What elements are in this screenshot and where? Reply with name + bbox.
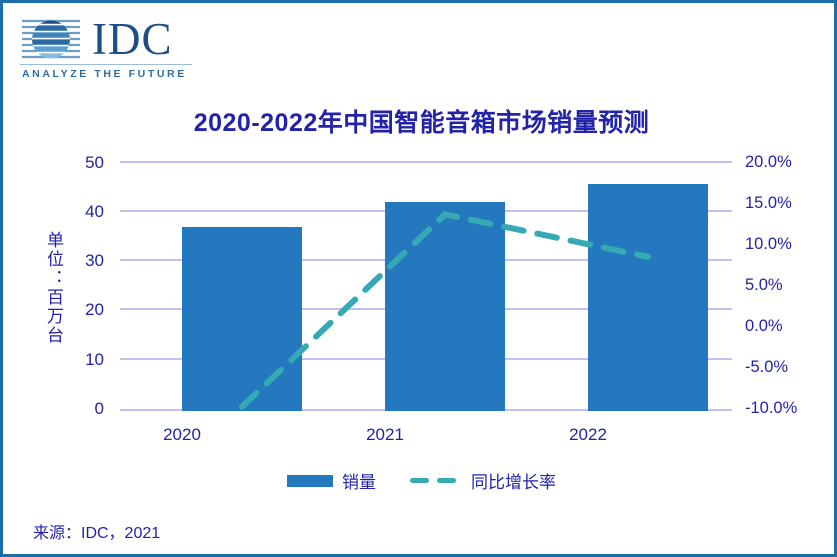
x-tick-2022: 2022 [528,425,648,445]
legend-item-growth-rate[interactable]: 同比增长率 [410,468,556,493]
idc-globe-icon [20,16,82,63]
y-tick-30: 30 [58,251,104,271]
growth-rate-line[interactable] [120,161,732,411]
chart-legend: 销量 同比增长率 [3,468,837,493]
legend-item-sales[interactable]: 销量 [287,468,376,493]
y2-tick-15: 15.0% [745,194,835,213]
y2-tick-10: 10.0% [745,235,835,254]
y2-tick-neg5: -5.0% [745,358,835,377]
y2-tick-neg10: -10.0% [745,399,835,418]
y-tick-10: 10 [58,350,104,370]
chart-title: 2020-2022年中国智能音箱市场销量预测 [3,103,837,139]
idc-wordmark: IDC [92,12,173,66]
idc-tagline: ANALYZE THE FUTURE [22,68,187,80]
x-tick-2021: 2021 [325,425,445,445]
legend-label-growth-rate: 同比增长率 [471,468,556,493]
y-tick-0: 0 [58,399,104,419]
y-tick-50: 50 [58,153,104,173]
legend-label-sales: 销量 [342,468,376,493]
source-note: 来源：IDC，2021 [33,519,160,543]
chart-title-main: 年中国智能音箱市场销量预测 [318,109,650,137]
y-axis-title: 单位：百万台 [41,231,66,345]
y-tick-40: 40 [58,202,104,222]
plot-area [120,161,732,411]
y-tick-20: 20 [58,300,104,320]
chart-title-prefix: 2020-2022 [194,109,318,137]
legend-bar-swatch-icon [287,475,333,487]
chart-page: IDC ANALYZE THE FUTURE 2020-2022年中国智能音箱市… [0,0,837,557]
y2-tick-20: 20.0% [745,153,835,172]
y2-tick-0: 0.0% [745,317,835,336]
logo-divider [20,64,192,65]
y2-tick-5: 5.0% [745,276,835,295]
legend-dashed-line-swatch-icon [410,478,462,483]
idc-logo: IDC ANALYZE THE FUTURE [20,16,192,78]
x-tick-2020: 2020 [122,425,242,445]
